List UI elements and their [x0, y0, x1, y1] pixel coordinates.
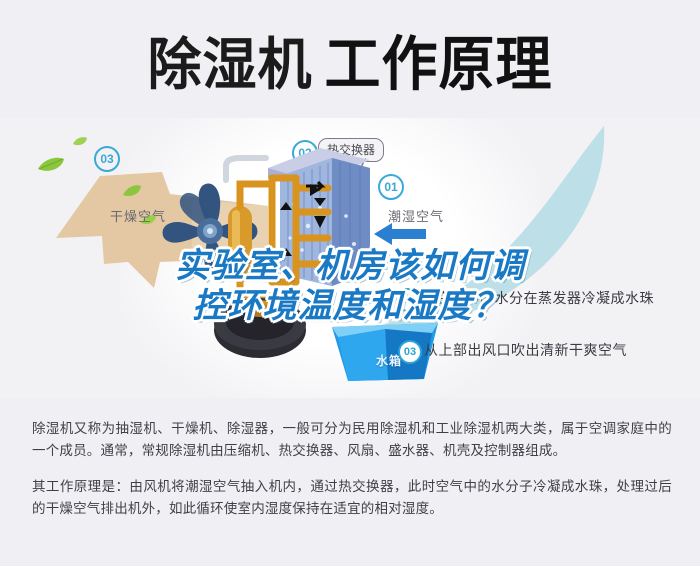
body-paragraph-1: 除湿机又称为抽湿机、干燥机、除湿器，一般可分为民用除湿机和工业除湿机两大类，属于… — [32, 418, 672, 462]
leaf-icon — [122, 184, 142, 198]
illustration-stage: 03 02 01 热交换器 干燥空气 潮湿空气 — [0, 118, 700, 398]
body-paragraph-2: 其工作原理是：由风机将潮湿空气抽入机内，通过热交换器，此时空气中的水分子冷凝成水… — [32, 476, 672, 520]
article-body: 除湿机又称为抽湿机、干燥机、除湿器，一般可分为民用除湿机和工业除湿机两大类，属于… — [32, 418, 672, 520]
title-secondary: 工作原理 — [325, 16, 553, 102]
infographic-page: 除湿机 工作原理 03 02 01 — [0, 0, 700, 566]
caption-text-03: 从上部出风口吹出清新干爽空气 — [424, 340, 627, 360]
leaf-icon — [72, 136, 88, 147]
air-inlet-arrow-icon — [372, 222, 426, 246]
title-primary: 除湿机 — [148, 18, 313, 100]
page-title: 除湿机 工作原理 — [148, 19, 553, 100]
leaf-icon — [36, 156, 66, 174]
compressor-unit — [208, 296, 318, 366]
page-header: 除湿机 工作原理 — [0, 0, 700, 118]
badge-03-dry-air: 03 — [94, 146, 120, 172]
caption-text-02: 湿空气中的水分在蒸发器冷凝成水珠 — [422, 288, 654, 308]
caption-badge-02: 02 — [396, 288, 420, 312]
caption-badge-03: 03 — [398, 340, 422, 364]
